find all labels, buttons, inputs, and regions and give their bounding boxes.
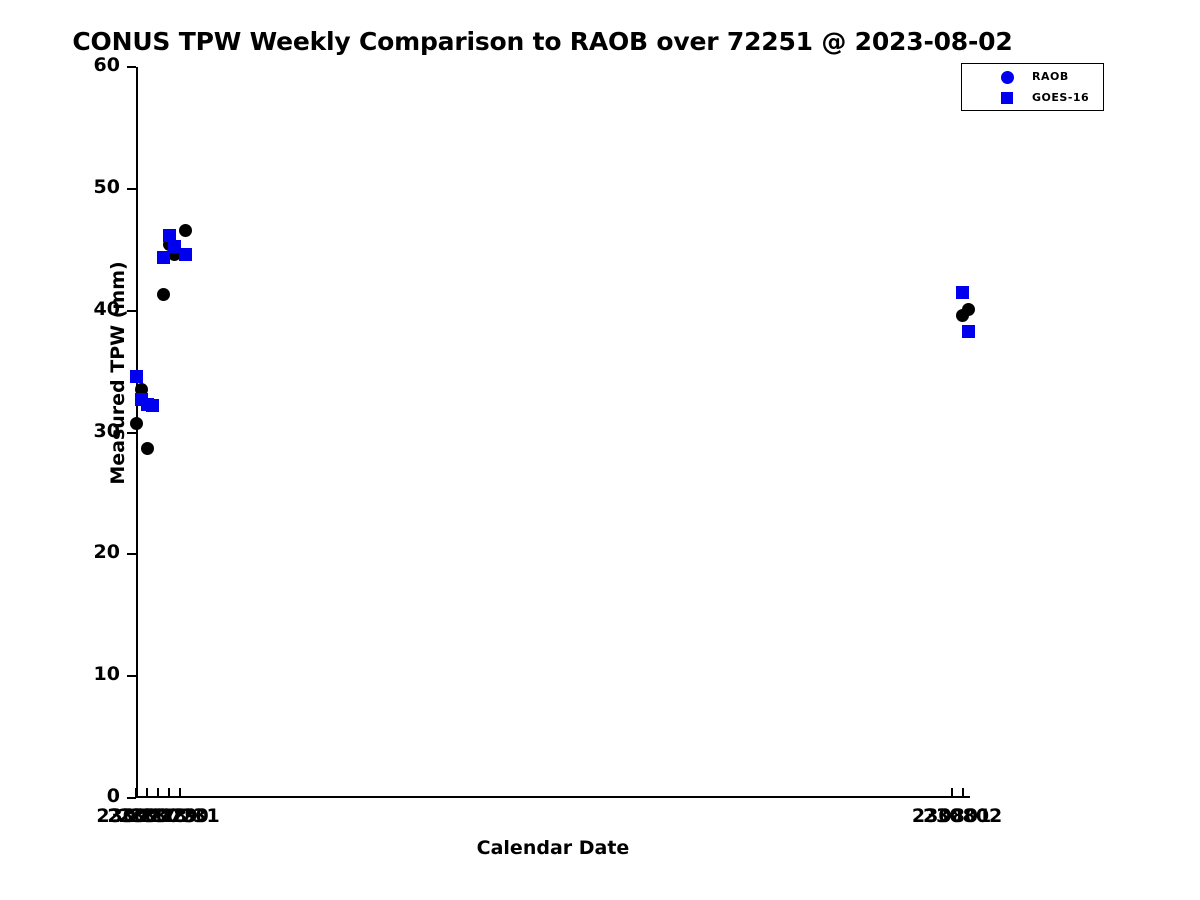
y-axis-tick-label: 60 — [60, 54, 120, 76]
data-point-goes-16 — [130, 370, 143, 383]
legend-item: RAOB — [962, 67, 1105, 87]
y-axis-tick — [127, 188, 136, 190]
chart-legend: RAOBGOES-16 — [961, 63, 1104, 111]
x-axis-tick — [157, 788, 159, 797]
data-point-raob — [141, 442, 154, 455]
data-point-raob — [130, 417, 143, 430]
x-axis-tick — [146, 788, 148, 797]
data-point-goes-16 — [956, 286, 969, 299]
x-axis-label: Calendar Date — [136, 837, 970, 859]
y-axis-line — [136, 67, 138, 798]
legend-marker — [995, 88, 1021, 108]
legend-marker — [995, 67, 1021, 87]
y-axis-tick — [127, 553, 136, 555]
plot-area: 0102030405060 23072723072823072923073023… — [136, 67, 970, 798]
x-axis-tick — [168, 788, 170, 797]
chart-figure: CONUS TPW Weekly Comparison to RAOB over… — [0, 0, 1200, 900]
x-axis-tick — [179, 788, 181, 797]
legend-label: GOES-16 — [1032, 91, 1089, 104]
x-axis-tick — [135, 788, 137, 797]
data-point-raob — [157, 288, 170, 301]
x-axis-tick-label: 230731 — [100, 805, 260, 827]
data-point-goes-16 — [179, 248, 192, 261]
y-axis-label: Measured TPW (mm) — [107, 213, 129, 533]
square-marker-icon — [1001, 92, 1013, 104]
y-axis-tick — [127, 797, 136, 799]
x-axis-tick — [951, 788, 953, 797]
legend-item: GOES-16 — [962, 88, 1105, 108]
circle-marker-icon — [1001, 71, 1014, 84]
y-axis-tick — [127, 675, 136, 677]
x-axis-line — [136, 796, 970, 798]
data-point-goes-16 — [146, 399, 159, 412]
legend-label: RAOB — [1032, 70, 1069, 83]
chart-title: CONUS TPW Weekly Comparison to RAOB over… — [0, 27, 1085, 56]
y-axis-tick-label: 20 — [60, 541, 120, 563]
data-point-raob — [962, 303, 975, 316]
y-axis-tick — [127, 66, 136, 68]
data-point-raob — [179, 224, 192, 237]
x-axis-tick-label: 230802 — [883, 805, 1043, 827]
y-axis-tick-label: 0 — [60, 785, 120, 807]
y-axis-tick-label: 10 — [60, 663, 120, 685]
y-axis-tick-label: 50 — [60, 176, 120, 198]
data-point-goes-16 — [962, 325, 975, 338]
x-axis-tick — [962, 788, 964, 797]
